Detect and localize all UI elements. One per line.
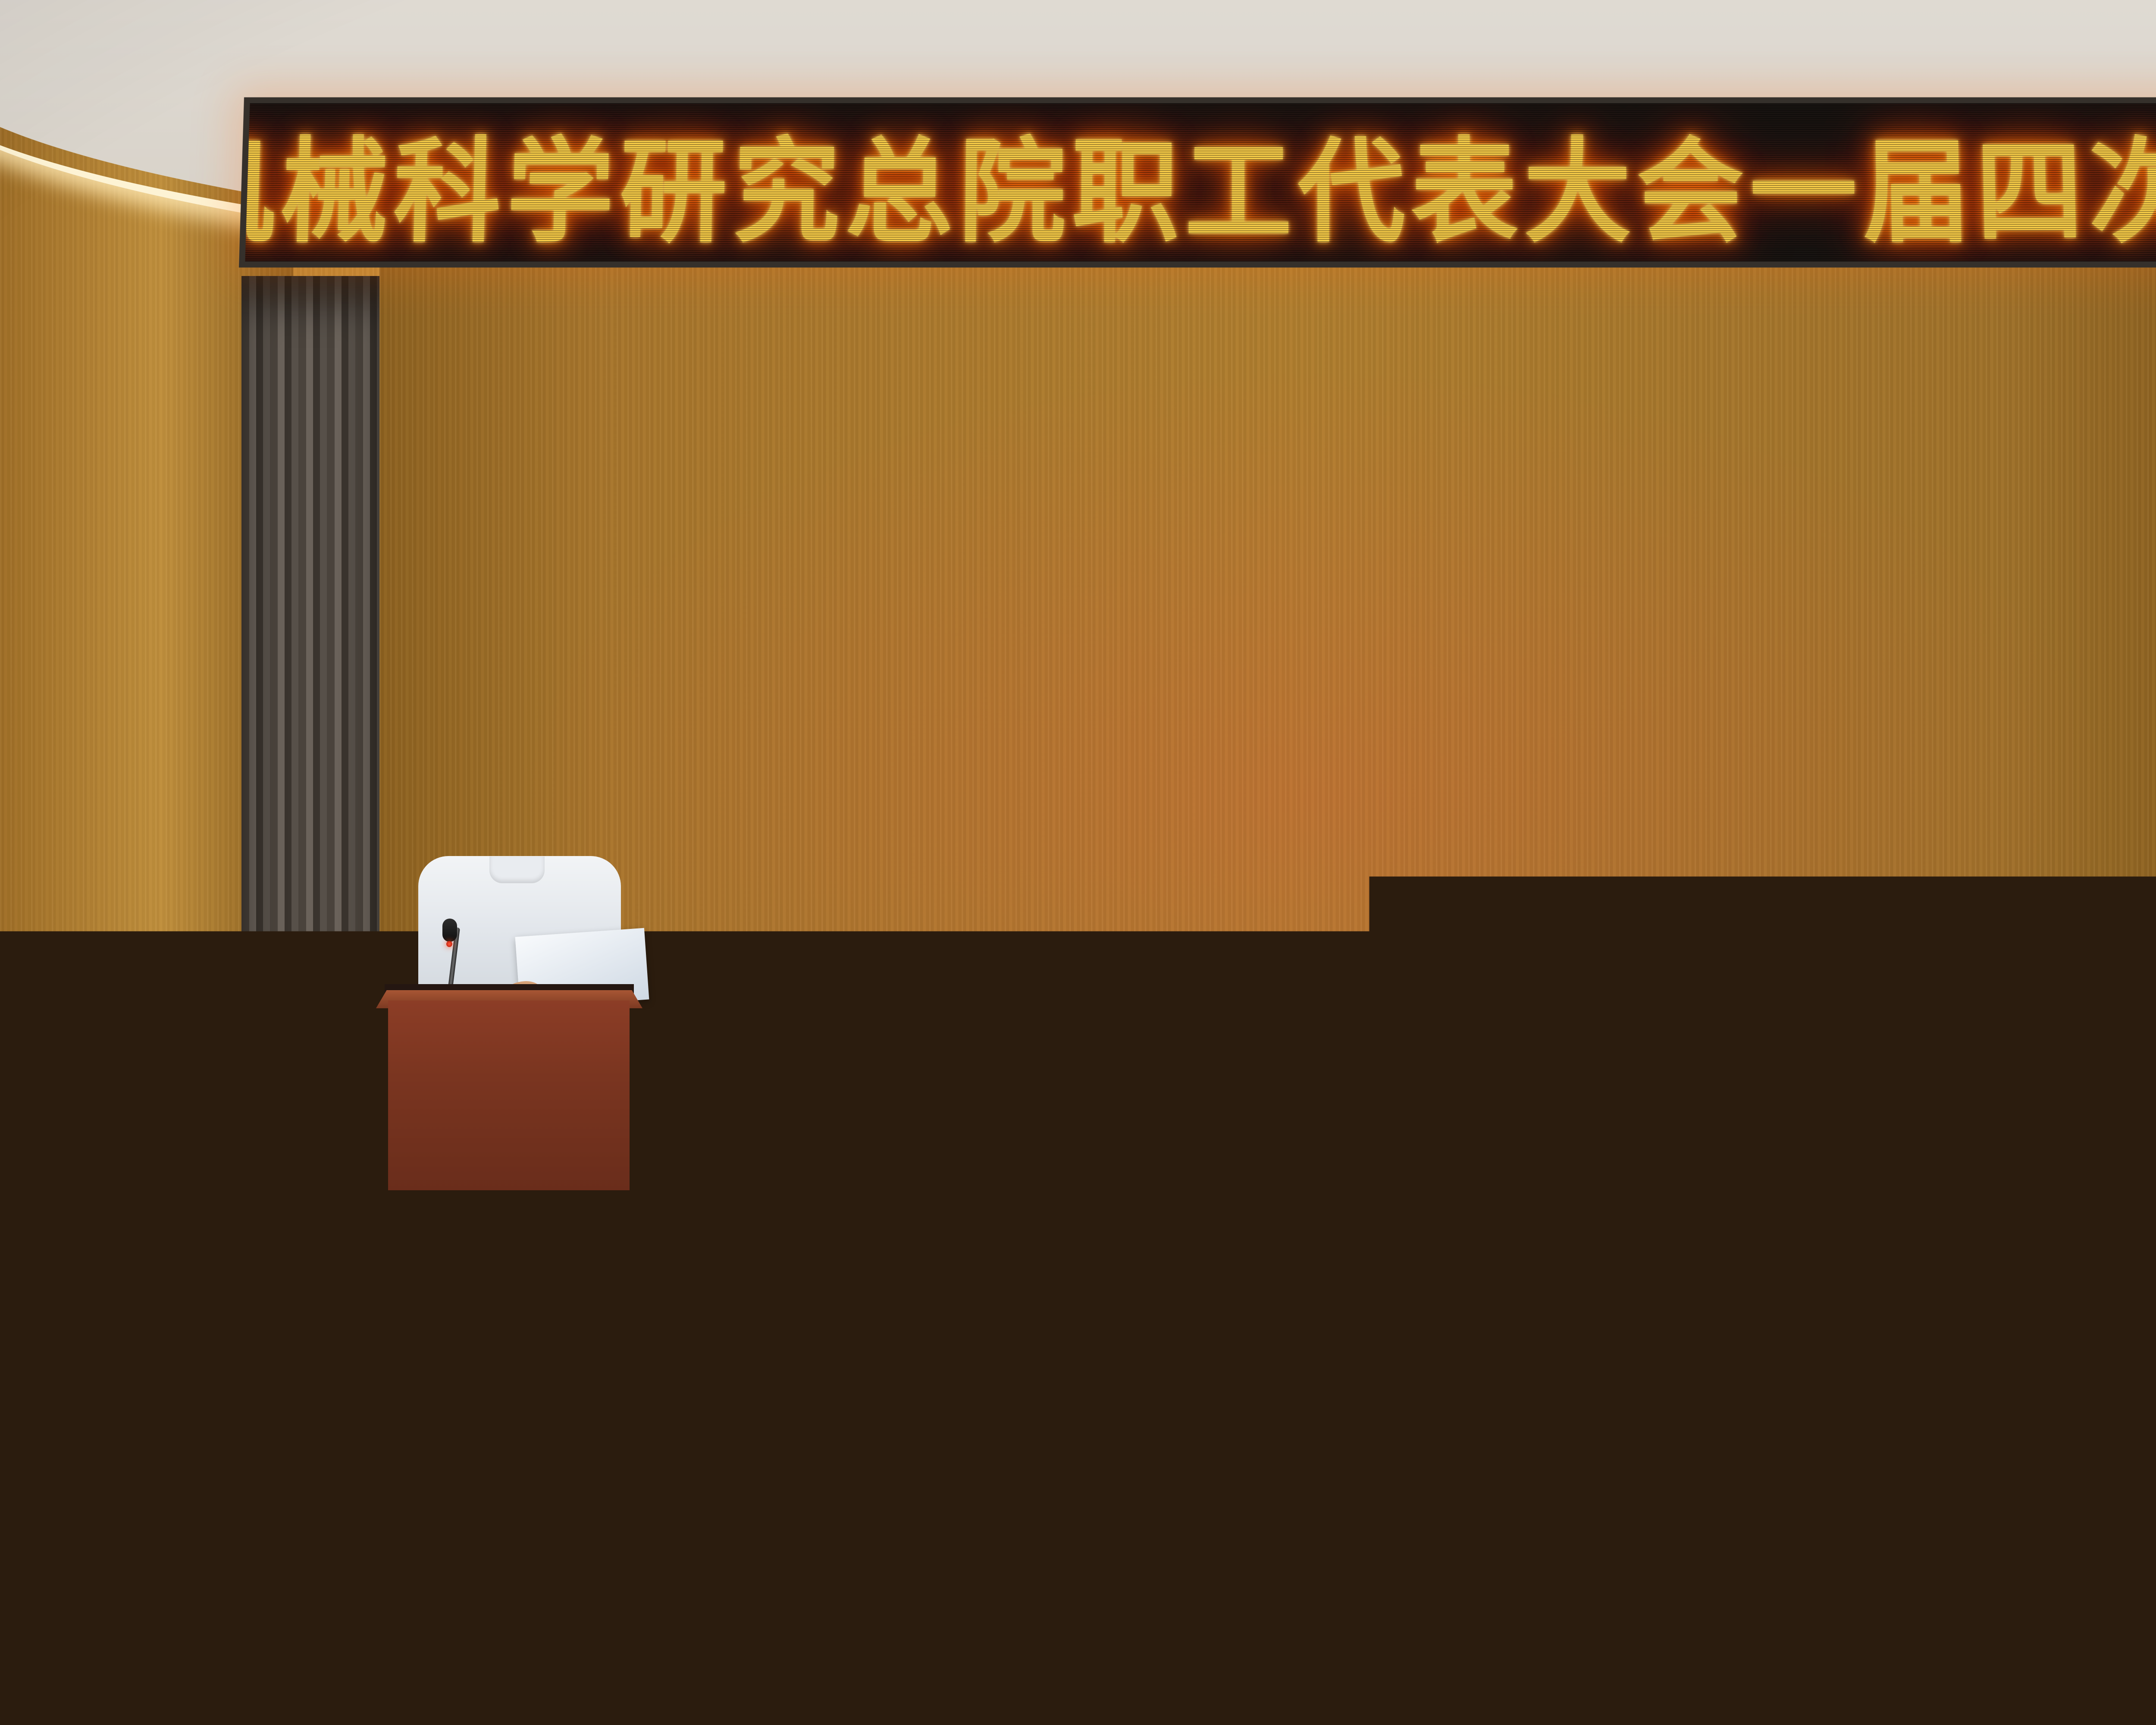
nameplate-name: 亮 [64,1204,87,1232]
bottle-label [254,1449,285,1482]
table-edge [0,1649,1087,1684]
camera-base [2037,861,2101,881]
led-banner-text: 机械科学研究总院职工代表大会一届四次会议 [239,100,2156,264]
chair-mesh-back [440,1528,655,1593]
nameplate-far-left: 机械科学研究总院 亮 [26,1186,125,1237]
mug-triangle-logo-icon [1175,1213,1192,1227]
mug-handle [1145,1207,1162,1230]
eyeglasses-icon [484,823,511,840]
camera-lens-icon [2049,819,2088,858]
slide-title-block: 机械科学研究总院 职工代表大会一届四次会议 [582,636,2044,846]
eyeglasses-icon [517,823,544,840]
chair[interactable] [1233,1535,1501,1630]
slide-title-line-2: 职工代表大会一届四次会议 [582,741,2044,846]
chair[interactable] [423,1509,673,1600]
chair[interactable] [690,1440,871,1509]
led-banner-display: 机械科学研究总院职工代表大会一届四次会议 [239,97,2156,268]
mobile-phone[interactable] [1184,1241,1238,1258]
nameplate-logo: 机械科学研究总院 [31,1190,69,1195]
slide-title-line-1: 机械科学研究总院 [582,636,2044,741]
microphone-icon [442,919,457,942]
chair-mesh-back [704,1455,857,1502]
bottle-cap [256,1402,281,1419]
nameplate-logo-cn: 机械科学研究总院 [31,1190,69,1195]
microphone-status-led [446,941,452,947]
speaker-collar [489,856,545,883]
chair-mesh-back [1252,1555,1482,1623]
conference-hall-photo: 机械科学研究总院职工代表大会一届四次会议 机械科学研究总院 职工代表大会一届四次… [0,0,2156,1725]
audience-area: 机械科学研究总院 China Academy of Machinery Scie… [0,1026,2156,1725]
camera-indicator-strip [2041,872,2096,876]
mug-knob [1180,1181,1188,1192]
eyeglasses-bridge [511,829,518,831]
bottle-cap [1226,1178,1247,1193]
table-foreground-right [975,1647,2156,1725]
